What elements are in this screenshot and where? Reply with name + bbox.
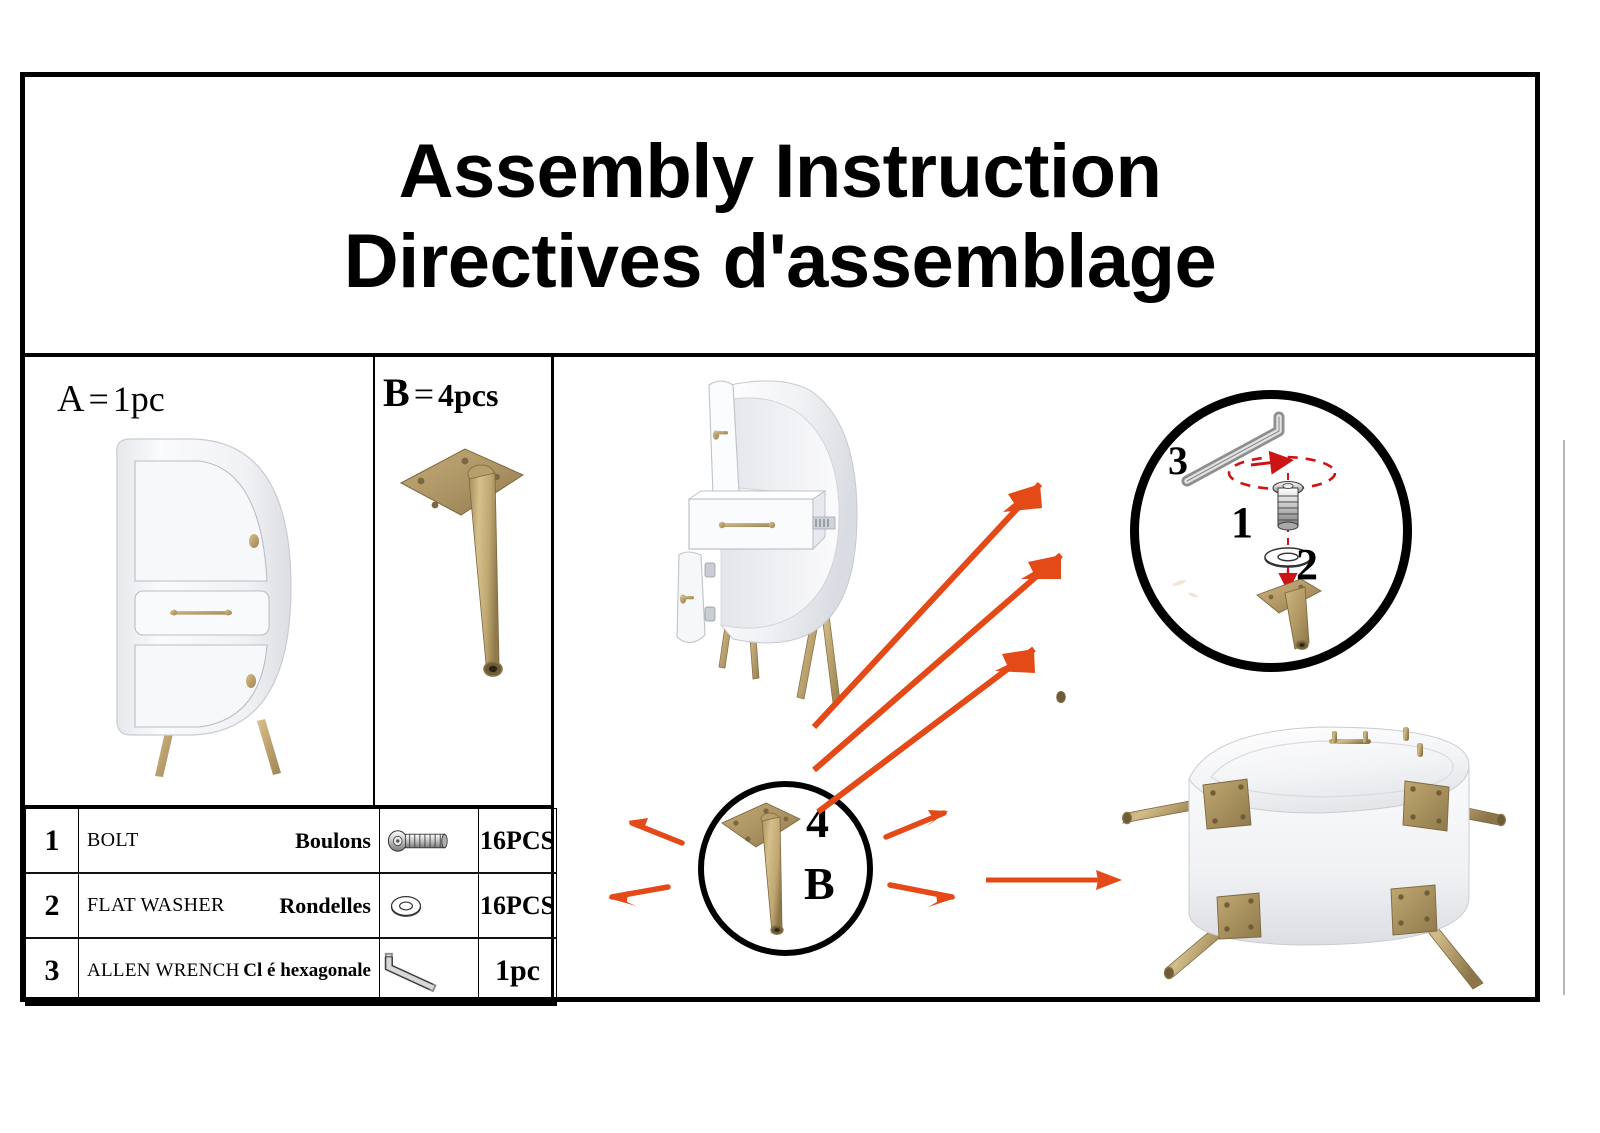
page-title-english: Assembly Instruction bbox=[399, 134, 1162, 210]
row-quantity: 1pc bbox=[479, 938, 557, 1004]
row-name-cell: BOLT Boulons bbox=[79, 809, 380, 874]
part-b-quantity: 4pcs bbox=[438, 377, 498, 413]
title-block: Assembly Instruction Directives d'assemb… bbox=[25, 77, 1535, 357]
row-quantity: 16PCS bbox=[479, 809, 557, 874]
row-name-french: Cl é hexagonale bbox=[243, 960, 371, 982]
detail-step-2-label: 2 bbox=[1296, 539, 1318, 590]
leg-callout-part-label: B bbox=[804, 857, 835, 910]
assembly-steps-column: 3 1 2 bbox=[556, 357, 1535, 1000]
title-divider-right bbox=[553, 354, 1535, 356]
tapered-metal-leg-icon bbox=[395, 431, 545, 731]
table-row: 2 FLAT WASHER Rondelles bbox=[26, 873, 557, 938]
row-name-cell: FLAT WASHER Rondelles bbox=[79, 873, 380, 938]
bolt-icon bbox=[380, 809, 479, 874]
row-name-english: FLAT WASHER bbox=[87, 894, 225, 917]
detail-step-3-label: 3 bbox=[1168, 437, 1188, 484]
flat-washer-icon bbox=[380, 873, 479, 938]
hardware-detail-callout bbox=[1130, 390, 1412, 672]
hardware-parts-table: 1 BOLT Boulons bbox=[25, 808, 557, 1006]
cabinet-upside-down-illustration bbox=[1061, 697, 1536, 992]
parts-panel-divider bbox=[373, 357, 375, 805]
table-row: 3 ALLEN WRENCH Cl é hexagonale bbox=[26, 938, 557, 1004]
page-title-french: Directives d'assemblage bbox=[344, 224, 1217, 300]
cabinet-exploded-illustration bbox=[661, 367, 951, 767]
part-b-label: B = 4pcs bbox=[383, 369, 498, 416]
half-round-cabinet-icon bbox=[95, 431, 345, 781]
row-name-french: Boulons bbox=[295, 828, 371, 854]
row-name-cell: ALLEN WRENCH Cl é hexagonale bbox=[79, 938, 380, 1004]
allen-wrench-icon bbox=[380, 938, 479, 1004]
assembly-instruction-sheet: Assembly Instruction Directives d'assemb… bbox=[0, 0, 1600, 1133]
row-name-french: Rondelles bbox=[279, 893, 371, 919]
part-a-label: A = 1pc bbox=[57, 377, 165, 421]
leg-quantity-callout bbox=[698, 781, 873, 956]
leg-callout-count-label: 4 bbox=[806, 795, 829, 848]
row-number: 3 bbox=[26, 938, 79, 1004]
part-a-equals: = bbox=[88, 379, 108, 419]
row-number: 1 bbox=[26, 809, 79, 874]
table-row: 1 BOLT Boulons bbox=[26, 809, 557, 874]
part-a-code: A bbox=[57, 378, 84, 420]
row-name-english: BOLT bbox=[87, 829, 139, 852]
detail-step-1-label: 1 bbox=[1231, 497, 1253, 548]
right-inner-guide-line bbox=[1563, 440, 1565, 995]
part-a-quantity: 1pc bbox=[113, 379, 165, 419]
part-b-code: B bbox=[383, 370, 410, 415]
parts-column: A = 1pc B = 4pcs bbox=[25, 357, 552, 1000]
part-b-equals: = bbox=[414, 374, 434, 414]
row-quantity: 16PCS bbox=[479, 873, 557, 938]
row-name-english: ALLEN WRENCH bbox=[87, 960, 240, 982]
row-number: 2 bbox=[26, 873, 79, 938]
